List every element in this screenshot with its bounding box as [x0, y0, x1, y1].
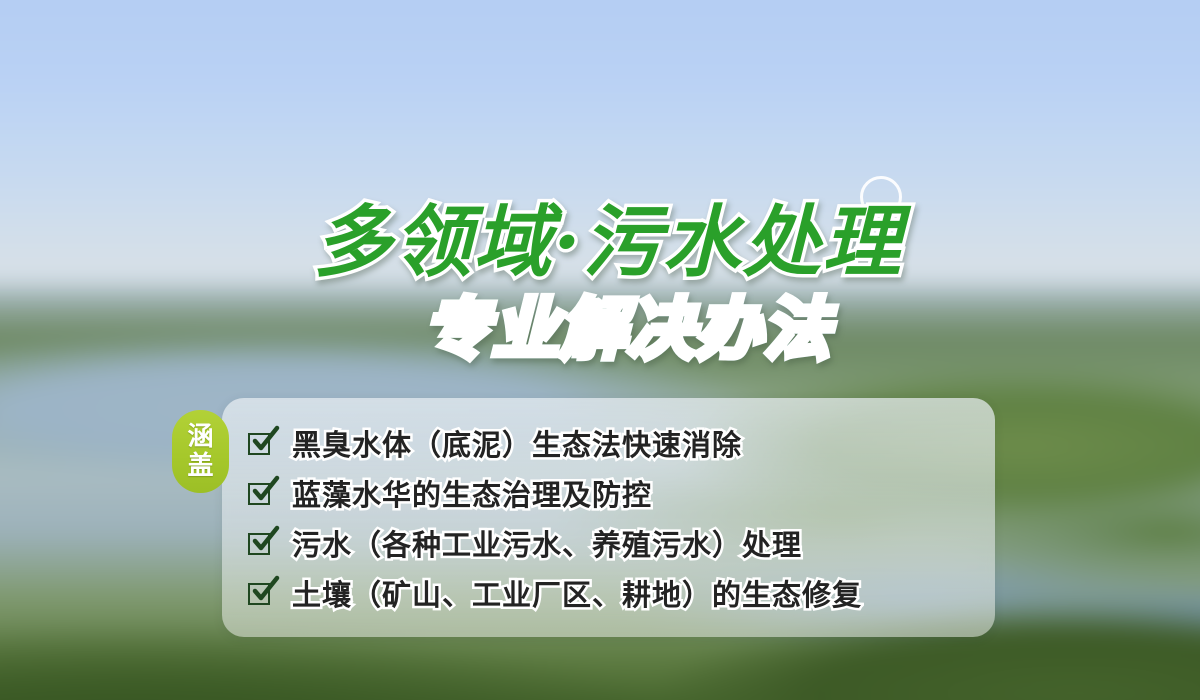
- headline-group: 多领域·污水处理 专业解决办法: [0, 204, 1200, 362]
- checkbox-checked-icon: [248, 429, 278, 457]
- headline-line-2: 专业解决办法: [0, 296, 1200, 362]
- list-item-label: 污水（各种工业污水、养殖污水）处理: [292, 522, 802, 564]
- checkbox-checked-icon: [248, 579, 278, 607]
- coverage-badge-char-2: 盖: [187, 452, 213, 480]
- list-item-label: 黑臭水体（底泥）生态法快速消除: [292, 422, 742, 464]
- list-item: 污水（各种工业污水、养殖污水）处理: [248, 518, 988, 568]
- checkbox-checked-icon: [248, 479, 278, 507]
- list-item-label: 土壤（矿山、工业厂区、耕地）的生态修复: [292, 572, 862, 614]
- list-item: 蓝藻水华的生态治理及防控: [248, 468, 988, 518]
- coverage-badge: 涵 盖: [172, 410, 229, 493]
- promo-banner: 多领域·污水处理 专业解决办法 涵 盖 黑臭水体（底泥）生态法快速消除: [0, 0, 1200, 700]
- list-item: 土壤（矿山、工业厂区、耕地）的生态修复: [248, 568, 988, 618]
- list-item: 黑臭水体（底泥）生态法快速消除: [248, 418, 988, 468]
- coverage-checklist: 黑臭水体（底泥）生态法快速消除 蓝藻水华的生态治理及防控 污水（各种工业污水、养…: [248, 418, 988, 618]
- headline-line-1: 多领域·污水处理: [0, 204, 1200, 282]
- list-item-label: 蓝藻水华的生态治理及防控: [292, 472, 652, 514]
- coverage-badge-char-1: 涵: [187, 423, 213, 451]
- checkbox-checked-icon: [248, 529, 278, 557]
